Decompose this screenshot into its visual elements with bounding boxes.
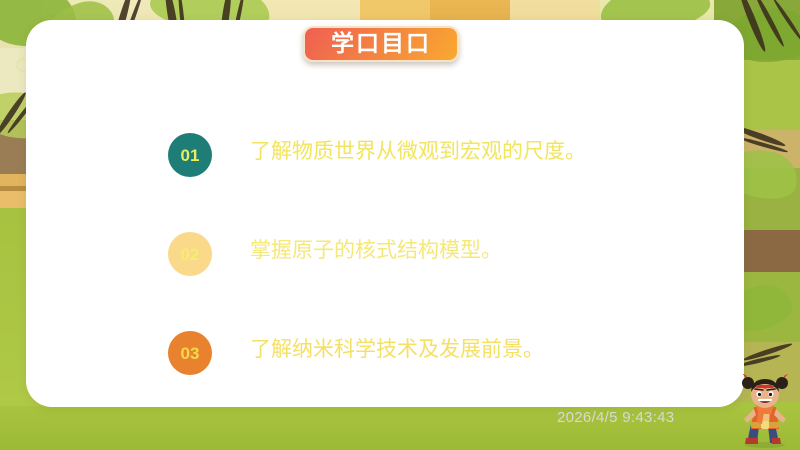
objective-list: 01 了解物质世界从微观到宏观的尺度。 02 掌握原子的核式结构模型。 03 了…: [168, 128, 688, 425]
objective-number-label: 02: [181, 246, 200, 263]
objective-text: 了解物质世界从微观到宏观的尺度。: [250, 138, 586, 165]
objective-text: 掌握原子的核式结构模型。: [250, 237, 502, 264]
slide-title-text: 学口目口: [331, 33, 431, 56]
objective-number-badge: 02: [168, 232, 212, 276]
mascot-character-icon: [734, 374, 796, 448]
objective-number-label: 01: [181, 147, 200, 164]
objective-text: 了解纳米科学技术及发展前景。: [250, 336, 544, 363]
slide-title-badge: 学口目口: [303, 26, 459, 62]
slide-root: 学口目口 01 了解物质世界从微观到宏观的尺度。 02 掌握原子的核式结构模型。…: [0, 0, 800, 450]
slide-timestamp: 2026/4/5 9:43:43: [557, 409, 674, 426]
objective-number-badge: 01: [168, 133, 212, 177]
objective-number-badge: 03: [168, 331, 212, 375]
objective-number-label: 03: [181, 345, 200, 362]
objective-item: 02 掌握原子的核式结构模型。: [168, 227, 688, 326]
objective-item: 01 了解物质世界从微观到宏观的尺度。: [168, 128, 688, 227]
